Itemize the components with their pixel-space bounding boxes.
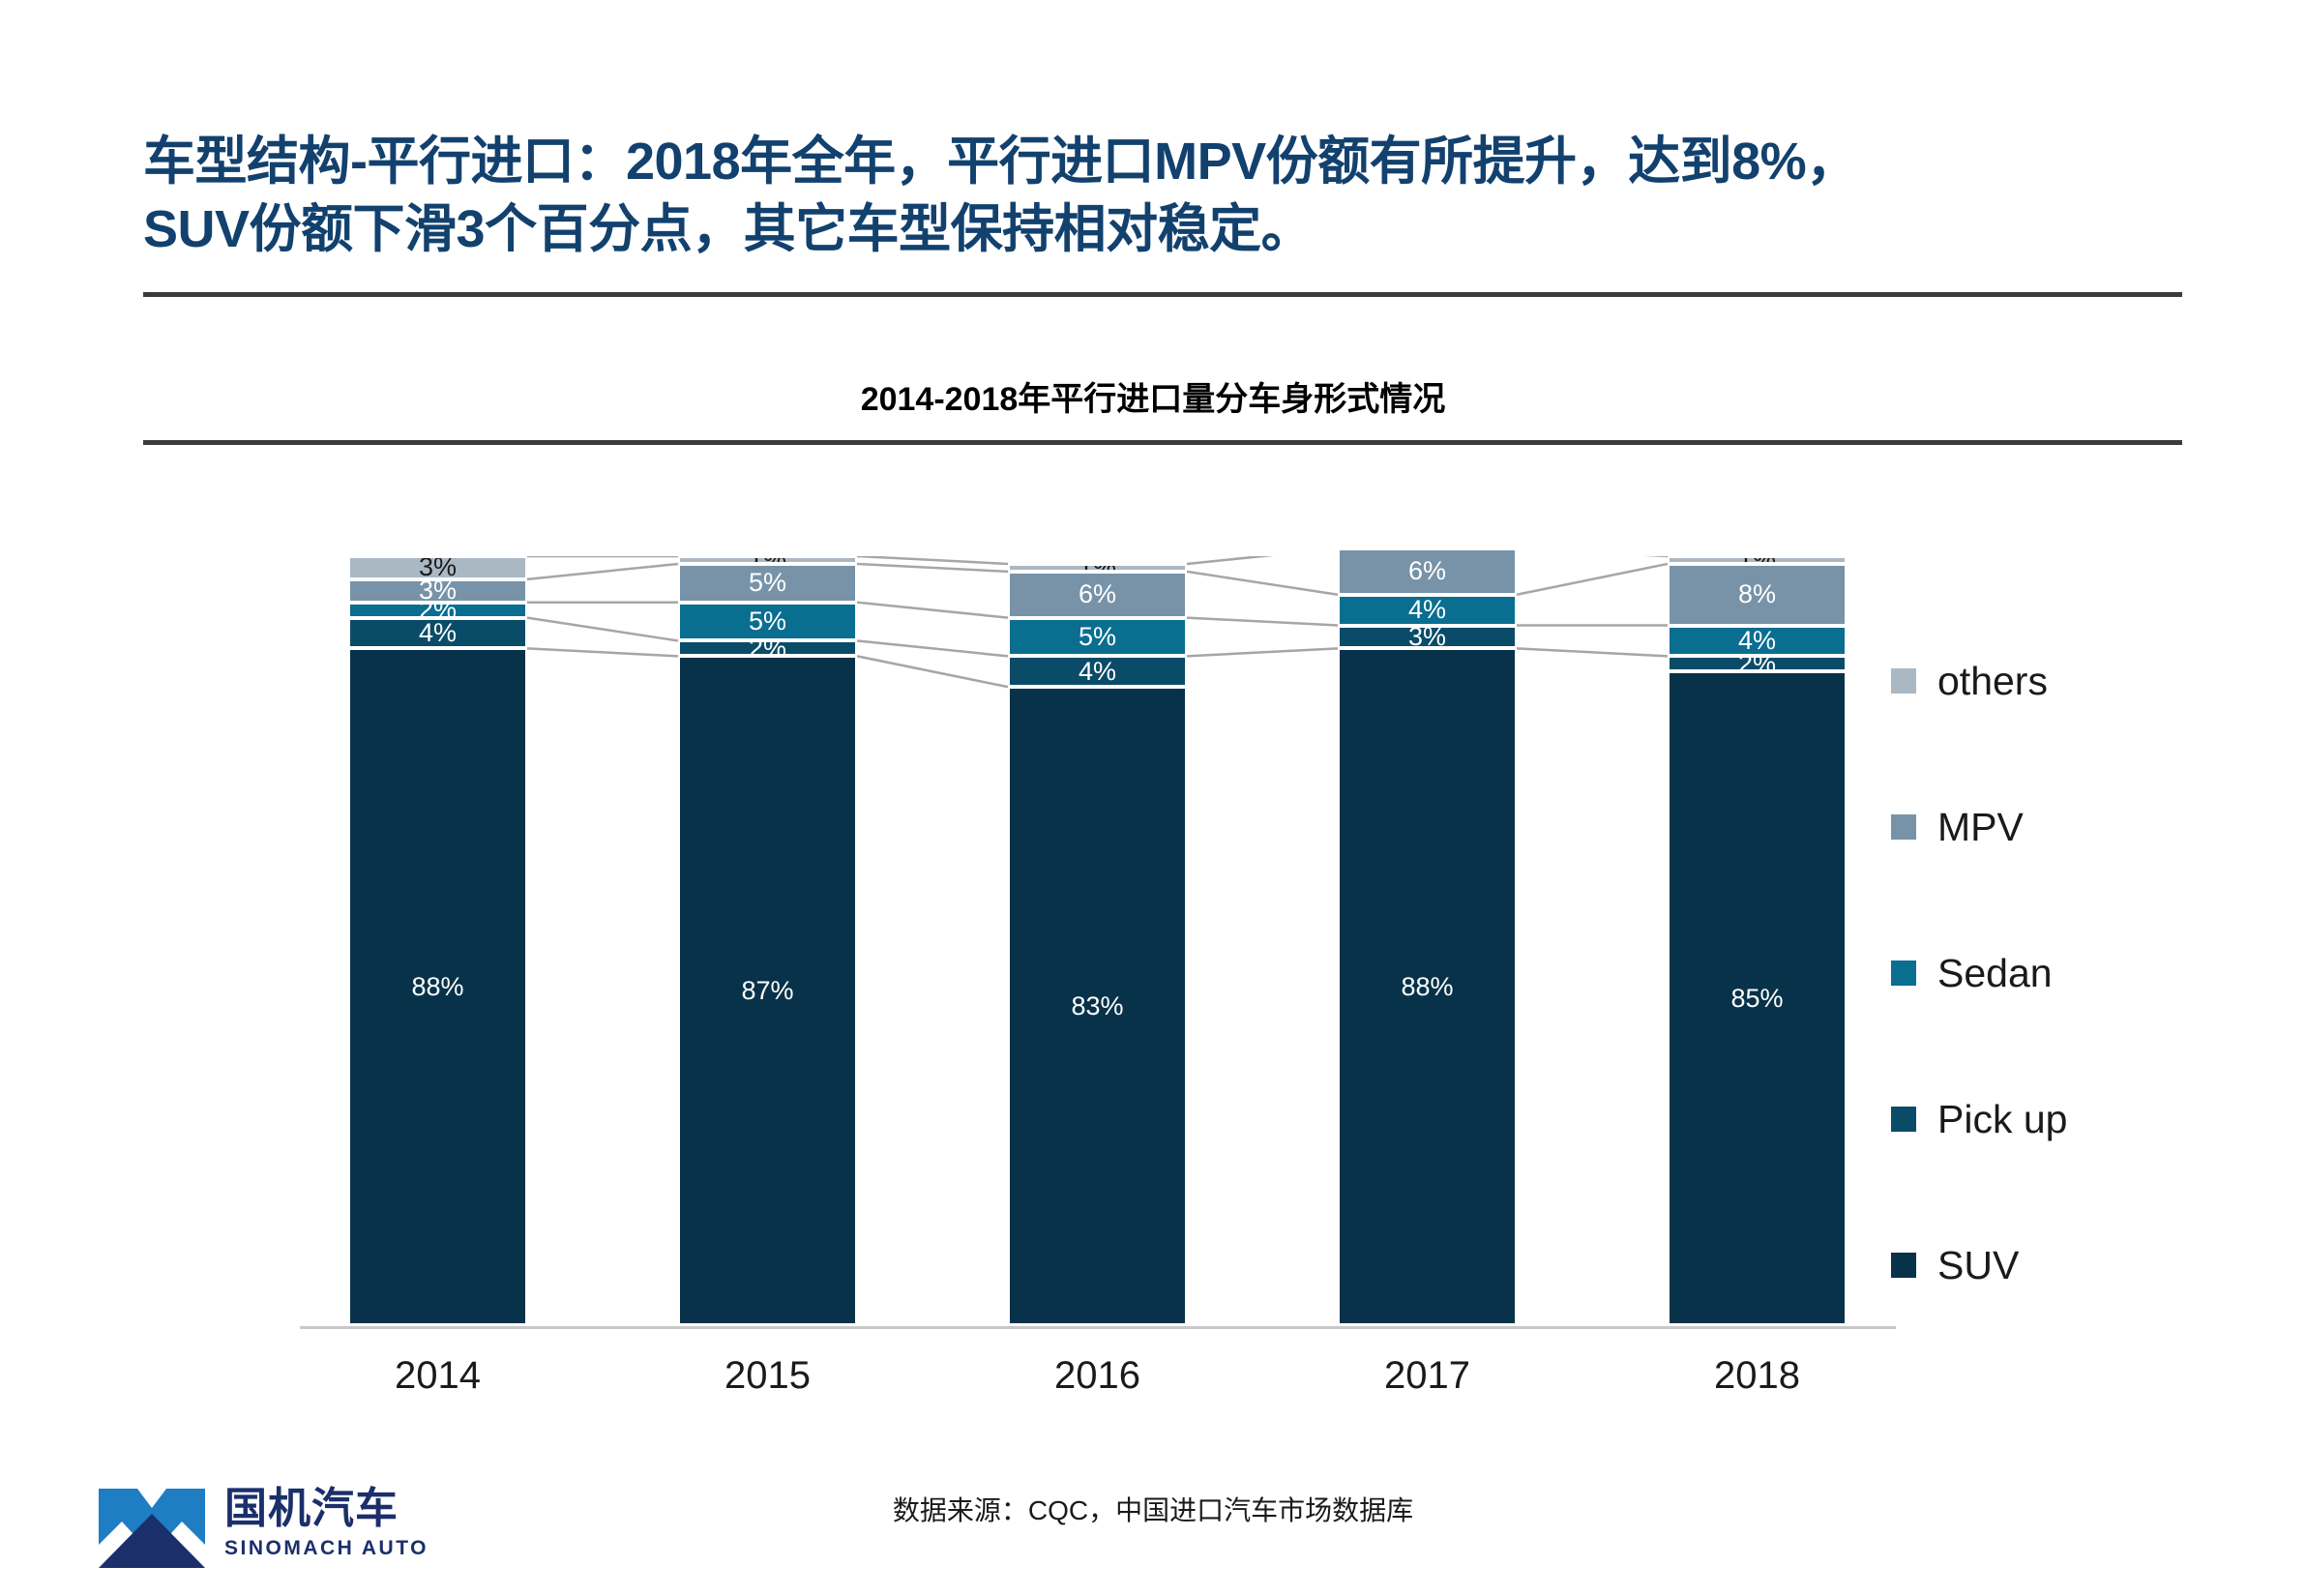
page-title-line-2: SUV份额下滑3个百分点，其它车型保持相对稳定。 [143, 195, 2179, 263]
x-axis-label-2014: 2014 [348, 1354, 527, 1398]
page-title-line-1: 车型结构-平行进口：2018年全年，平行进口MPV份额有所提升，达到8%， [143, 128, 2179, 195]
bar-segment-others-2014: 3% [348, 556, 527, 579]
bar-segment-pick-up-2014: 4% [348, 618, 527, 649]
legend-label: SUV [1937, 1243, 2019, 1288]
stacked-bar-chart: 3%3%2%4%88%1%5%5%2%87%1%6%5%4%83%6%4%3%8… [348, 556, 1848, 1325]
bar-segment-mpv-2018: 8% [1668, 564, 1847, 626]
bar-segment-value: 6% [1079, 579, 1116, 609]
legend-item-pick-up[interactable]: Pick up [1891, 1072, 2162, 1167]
legend-swatch-icon [1891, 814, 1916, 840]
legend-swatch-icon [1891, 668, 1916, 694]
bar-segment-value: 87% [741, 976, 793, 1006]
bar-segment-value: 2% [419, 603, 457, 618]
bar-column-2018: 1%8%4%2%85% [1668, 556, 1847, 1325]
bar-segment-suv-2014: 88% [348, 648, 527, 1325]
bar-segment-value: 3% [419, 579, 457, 603]
legend-item-mpv[interactable]: MPV [1891, 780, 2162, 874]
bar-segment-suv-2018: 85% [1668, 671, 1847, 1325]
bar-segment-mpv-2014: 3% [348, 579, 527, 603]
bar-column-2015: 1%5%5%2%87% [678, 556, 857, 1325]
legend-swatch-icon [1891, 1253, 1916, 1278]
axis-baseline [300, 1326, 1896, 1329]
logo-chinese-name: 国机汽车 [224, 1488, 429, 1530]
x-axis-label-2016: 2016 [1008, 1354, 1187, 1398]
bar-segment-value: 4% [1408, 595, 1446, 625]
logo-wordmark: 国机汽车 SINOMACH AUTO [224, 1488, 429, 1560]
x-axis-label-2017: 2017 [1338, 1354, 1517, 1398]
title-divider [143, 292, 2182, 297]
bar-segment-sedan-2016: 5% [1008, 618, 1187, 657]
bar-segment-value: 4% [419, 618, 457, 648]
bar-segment-value: 85% [1730, 984, 1783, 1014]
legend-swatch-icon [1891, 1107, 1916, 1132]
bar-segment-suv-2015: 87% [678, 656, 857, 1325]
bar-segment-value: 8% [1738, 579, 1776, 609]
bar-segment-value: 3% [419, 556, 457, 579]
bar-segment-mpv-2017: 6% [1338, 548, 1517, 595]
bar-segment-sedan-2015: 5% [678, 603, 857, 641]
bar-segment-pick-up-2015: 2% [678, 640, 857, 656]
x-axis-label-2018: 2018 [1668, 1354, 1847, 1398]
chart-legend: othersMPVSedanPick upSUV [1891, 634, 2162, 1364]
bar-segment-value: 5% [749, 606, 786, 636]
chart-title: 2014-2018年平行进口量分车身形式情况 [0, 372, 2306, 420]
bar-segment-value: 5% [749, 568, 786, 598]
bar-segment-value: 88% [411, 972, 463, 1002]
legend-swatch-icon [1891, 961, 1916, 986]
bar-segment-sedan-2018: 4% [1668, 626, 1847, 657]
legend-item-suv[interactable]: SUV [1891, 1218, 2162, 1313]
bar-segment-value: 4% [1738, 626, 1776, 656]
bar-segment-others-2018: 1% [1668, 556, 1847, 564]
bar-segment-value: 6% [1408, 556, 1446, 586]
bar-segment-others-2015: 1% [678, 556, 857, 564]
x-axis-labels: 20142015201620172018 [348, 1354, 1848, 1422]
slide-header: 车型结构-平行进口：2018年全年，平行进口MPV份额有所提升，达到8%， SU… [143, 128, 2179, 263]
bar-segment-pick-up-2017: 3% [1338, 626, 1517, 649]
legend-label: Sedan [1937, 951, 2053, 996]
bar-segment-sedan-2014: 2% [348, 603, 527, 618]
bar-segment-suv-2016: 83% [1008, 687, 1187, 1325]
bar-segment-value: 2% [749, 640, 786, 656]
bar-segment-mpv-2015: 5% [678, 564, 857, 603]
bar-segment-suv-2017: 88% [1338, 648, 1517, 1325]
legend-label: others [1937, 659, 2048, 704]
legend-item-sedan[interactable]: Sedan [1891, 926, 2162, 1020]
x-axis-label-2015: 2015 [678, 1354, 857, 1398]
bar-segment-value: 83% [1071, 991, 1123, 1021]
bar-column-2014: 3%3%2%4%88% [348, 556, 527, 1325]
bar-segment-pick-up-2016: 4% [1008, 656, 1187, 687]
bar-segment-value: 5% [1079, 622, 1116, 652]
bar-segment-value: 1% [1079, 564, 1116, 572]
bar-segment-value: 4% [1079, 657, 1116, 687]
bar-column-2016: 1%6%5%4%83% [1008, 556, 1187, 1325]
subtitle-divider [143, 440, 2182, 445]
bar-segment-mpv-2016: 6% [1008, 572, 1187, 618]
bar-column-2017: 6%4%3%88% [1338, 556, 1517, 1325]
sinomach-auto-logo: 国机汽车 SINOMACH AUTO [95, 1475, 429, 1572]
logo-english-name: SINOMACH AUTO [224, 1537, 429, 1560]
legend-item-others[interactable]: others [1891, 634, 2162, 728]
bar-segment-value: 3% [1408, 626, 1446, 649]
legend-label: MPV [1937, 805, 2024, 850]
bar-segment-value: 88% [1401, 972, 1453, 1002]
bar-segment-pick-up-2018: 2% [1668, 656, 1847, 671]
bar-segment-value: 1% [749, 556, 786, 564]
legend-label: Pick up [1937, 1097, 2067, 1142]
mountain-logo-icon [95, 1475, 209, 1572]
bar-segment-others-2016: 1% [1008, 564, 1187, 572]
bar-segment-sedan-2017: 4% [1338, 595, 1517, 626]
bar-segment-value: 1% [1738, 556, 1776, 564]
bar-segment-value: 2% [1738, 656, 1776, 671]
